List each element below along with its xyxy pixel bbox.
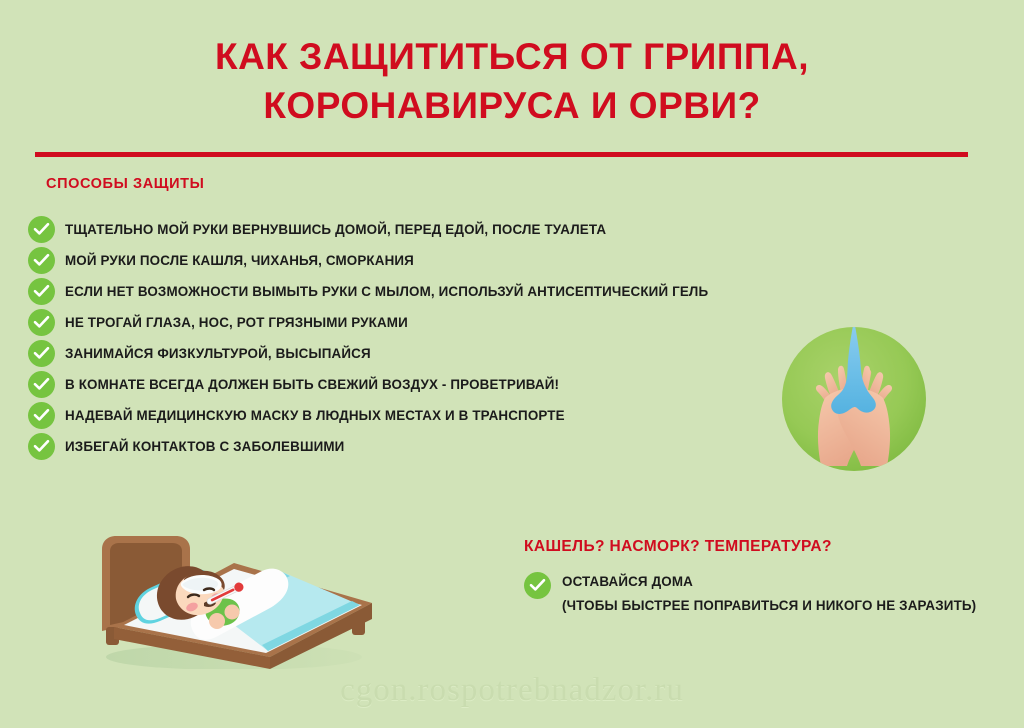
- list-item-label: В КОМНАТЕ ВСЕГДА ДОЛЖЕН БЫТЬ СВЕЖИЙ ВОЗД…: [65, 377, 559, 392]
- check-circle-icon: [28, 371, 55, 398]
- check-circle-icon: [28, 402, 55, 429]
- watermark: cgon.rospotrebnadzor.ru: [0, 672, 1024, 709]
- check-circle-icon: [28, 340, 55, 367]
- title-line-2: КОРОНАВИРУСА И ОРВИ?: [0, 81, 1024, 130]
- list-item: МОЙ РУКИ ПОСЛЕ КАШЛЯ, ЧИХАНЬЯ, СМОРКАНИЯ: [28, 245, 978, 276]
- washing-hands-icon: [781, 326, 927, 472]
- check-circle-icon: [28, 247, 55, 274]
- list-item-label: ТЩАТЕЛЬНО МОЙ РУКИ ВЕРНУВШИСЬ ДОМОЙ, ПЕР…: [65, 222, 606, 237]
- infographic-poster: КАК ЗАЩИТИТЬСЯ ОТ ГРИППА, КОРОНАВИРУСА И…: [0, 0, 1024, 728]
- sick-person-in-bed-icon: [84, 527, 376, 669]
- check-circle-icon: [28, 309, 55, 336]
- symptom-advice-text: ОСТАВАЙСЯ ДОМА (ЧТОБЫ БЫСТРЕЕ ПОПРАВИТЬС…: [562, 570, 976, 618]
- check-circle-icon: [28, 216, 55, 243]
- list-item-label: ЗАНИМАЙСЯ ФИЗКУЛЬТУРОЙ, ВЫСЫПАЙСЯ: [65, 346, 371, 361]
- symptom-advice-line-2: (ЧТОБЫ БЫСТРЕЕ ПОПРАВИТЬСЯ И НИКОГО НЕ З…: [562, 594, 976, 618]
- list-item: ЕСЛИ НЕТ ВОЗМОЖНОСТИ ВЫМЫТЬ РУКИ С МЫЛОМ…: [28, 276, 978, 307]
- divider: [35, 152, 968, 157]
- list-item-label: ИЗБЕГАЙ КОНТАКТОВ С ЗАБОЛЕВШИМИ: [65, 439, 344, 454]
- list-item: ТЩАТЕЛЬНО МОЙ РУКИ ВЕРНУВШИСЬ ДОМОЙ, ПЕР…: [28, 214, 978, 245]
- page-title: КАК ЗАЩИТИТЬСЯ ОТ ГРИППА, КОРОНАВИРУСА И…: [0, 32, 1024, 130]
- symptom-heading: КАШЕЛЬ? НАСМОРК? ТЕМПЕРАТУРА?: [524, 538, 994, 556]
- check-circle-icon: [524, 572, 551, 599]
- symptom-advice-row: ОСТАВАЙСЯ ДОМА (ЧТОБЫ БЫСТРЕЕ ПОПРАВИТЬС…: [524, 570, 994, 618]
- title-line-1: КАК ЗАЩИТИТЬСЯ ОТ ГРИППА,: [0, 32, 1024, 81]
- check-circle-icon: [28, 433, 55, 460]
- list-item-label: НАДЕВАЙ МЕДИЦИНСКУЮ МАСКУ В ЛЮДНЫХ МЕСТА…: [65, 408, 565, 423]
- check-circle-icon: [28, 278, 55, 305]
- symptom-advice-block: КАШЕЛЬ? НАСМОРК? ТЕМПЕРАТУРА? ОСТАВАЙСЯ …: [524, 538, 994, 618]
- list-item-label: НЕ ТРОГАЙ ГЛАЗА, НОС, РОТ ГРЯЗНЫМИ РУКАМ…: [65, 315, 408, 330]
- list-item-label: ЕСЛИ НЕТ ВОЗМОЖНОСТИ ВЫМЫТЬ РУКИ С МЫЛОМ…: [65, 284, 708, 299]
- list-item-label: МОЙ РУКИ ПОСЛЕ КАШЛЯ, ЧИХАНЬЯ, СМОРКАНИЯ: [65, 253, 414, 268]
- symptom-advice-line-1: ОСТАВАЙСЯ ДОМА: [562, 570, 976, 594]
- section-heading-protection: СПОСОБЫ ЗАЩИТЫ: [46, 176, 204, 192]
